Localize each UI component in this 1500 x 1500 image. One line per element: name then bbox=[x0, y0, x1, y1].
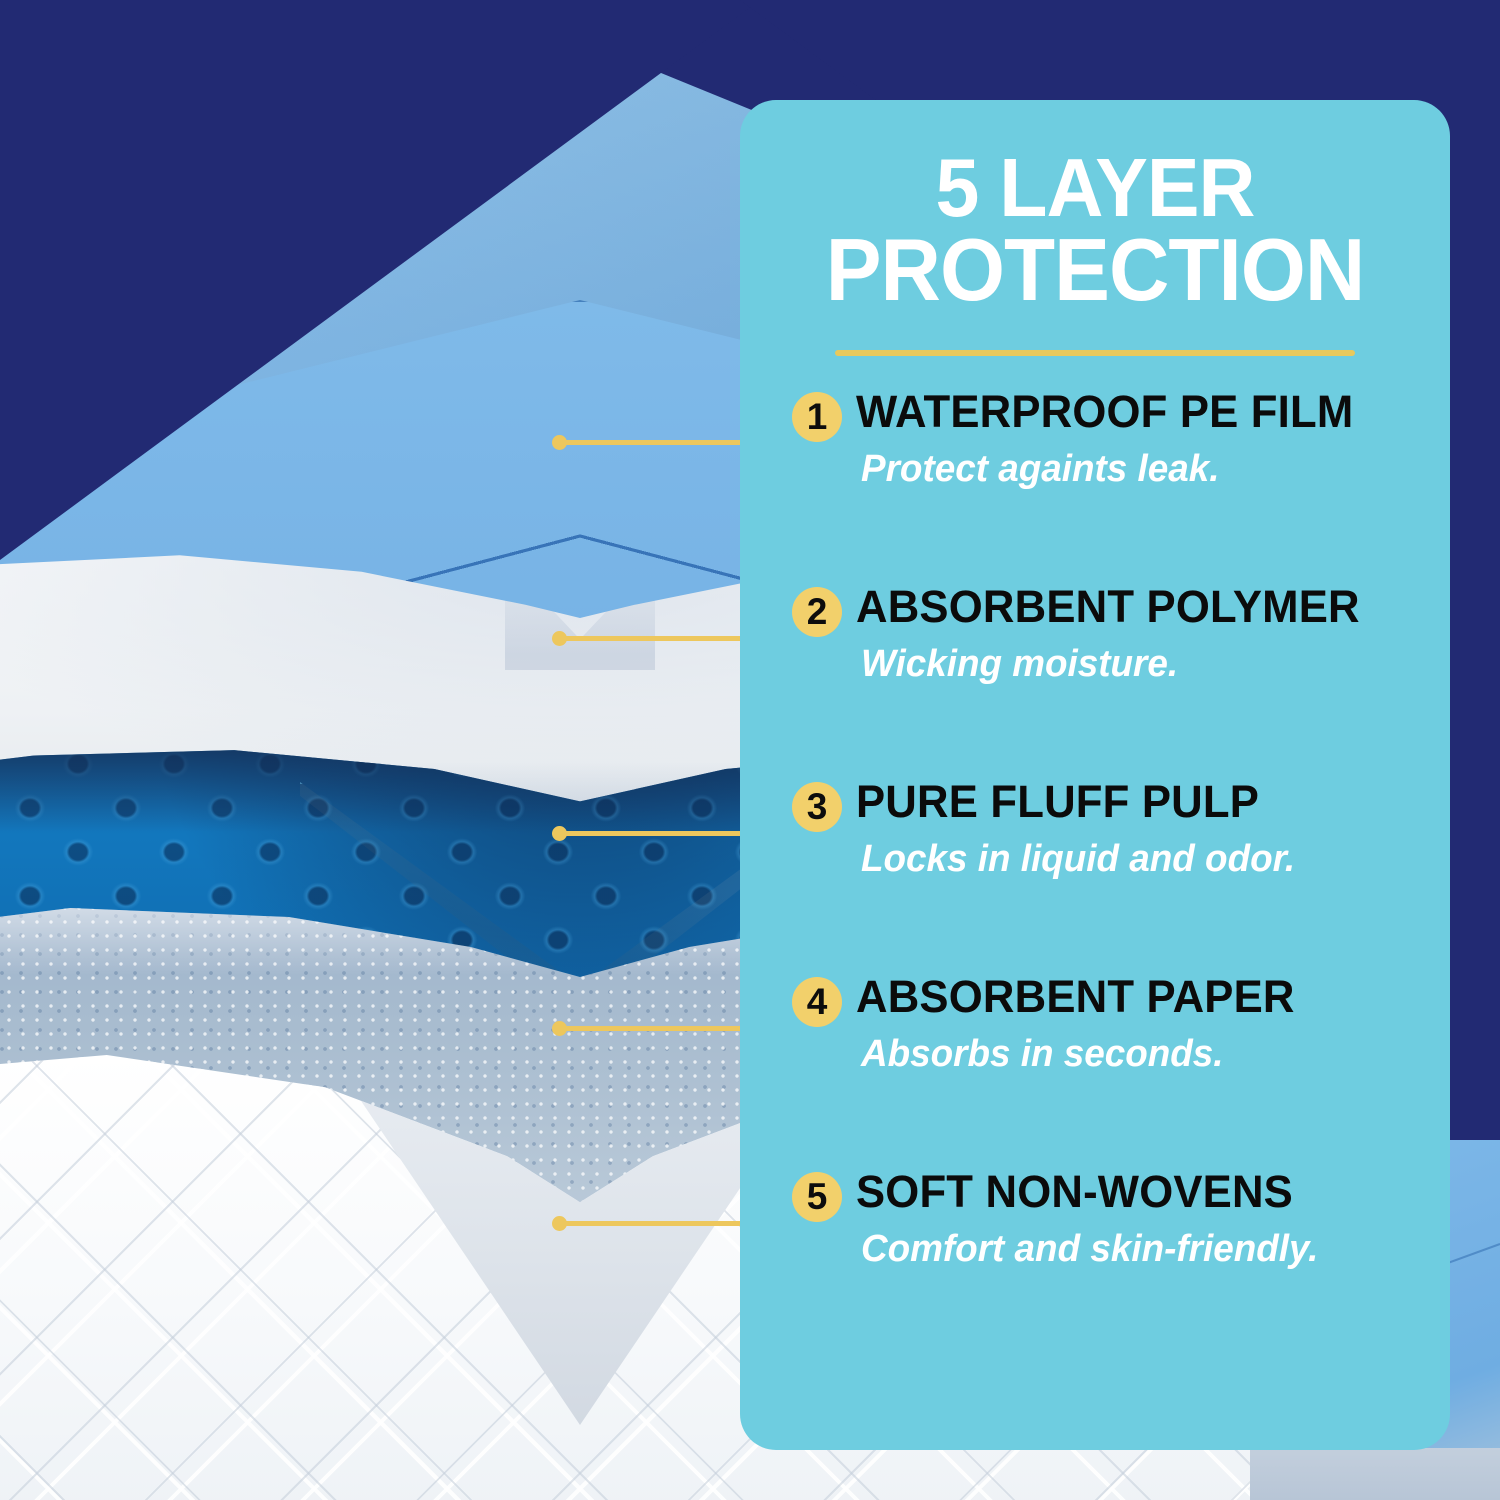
layer-description-3: Locks in liquid and odor. bbox=[861, 838, 1295, 881]
layer-name-4: ABSORBENT PAPER bbox=[856, 971, 1295, 1023]
layer-row-5: 5 SOFT NON-WOVENS Comfort and skin-frien… bbox=[766, 1166, 1450, 1361]
layer-badge-2: 2 bbox=[792, 587, 842, 637]
leader-dot-4 bbox=[552, 1021, 567, 1036]
layer-badge-5: 5 bbox=[792, 1172, 842, 1222]
layer-badge-4: 4 bbox=[792, 977, 842, 1027]
layer-name-3: PURE FLUFF PULP bbox=[856, 776, 1259, 828]
leader-dot-3 bbox=[552, 826, 567, 841]
title-divider bbox=[835, 350, 1355, 356]
panel-title-line-2: PROTECTION bbox=[790, 228, 1400, 312]
layer-name-2: ABSORBENT POLYMER bbox=[856, 581, 1360, 633]
layer-description-1: Protect againts leak. bbox=[861, 448, 1220, 491]
layer-name-5: SOFT NON-WOVENS bbox=[856, 1166, 1293, 1218]
layer-row-2: 2 ABSORBENT POLYMER Wicking moisture. bbox=[766, 581, 1450, 776]
layer-description-4: Absorbs in seconds. bbox=[861, 1033, 1224, 1076]
info-panel: 5 LAYER PROTECTION 1 WATERPROOF PE FILM … bbox=[740, 100, 1450, 1450]
leader-dot-2 bbox=[552, 631, 567, 646]
layer-row-4: 4 ABSORBENT PAPER Absorbs in seconds. bbox=[766, 971, 1450, 1166]
layer-row-3: 3 PURE FLUFF PULP Locks in liquid and od… bbox=[766, 776, 1450, 971]
layer-description-2: Wicking moisture. bbox=[861, 643, 1178, 686]
infographic-stage: 5 LAYER PROTECTION 1 WATERPROOF PE FILM … bbox=[0, 0, 1500, 1500]
layer-badge-1: 1 bbox=[792, 392, 842, 442]
layer-description-5: Comfort and skin-friendly. bbox=[861, 1228, 1318, 1271]
leader-dot-1 bbox=[552, 435, 567, 450]
panel-title: 5 LAYER PROTECTION bbox=[790, 148, 1400, 312]
layer-name-1: WATERPROOF PE FILM bbox=[856, 386, 1353, 438]
layer-badge-3: 3 bbox=[792, 782, 842, 832]
background-column-right bbox=[1448, 0, 1500, 1140]
layers-list: 1 WATERPROOF PE FILM Protect againts lea… bbox=[740, 386, 1450, 1361]
leader-dot-5 bbox=[552, 1216, 567, 1231]
panel-title-line-1: 5 LAYER bbox=[790, 148, 1400, 228]
photo-bottom-strip bbox=[1250, 1448, 1500, 1500]
layer-row-1: 1 WATERPROOF PE FILM Protect againts lea… bbox=[766, 386, 1450, 581]
